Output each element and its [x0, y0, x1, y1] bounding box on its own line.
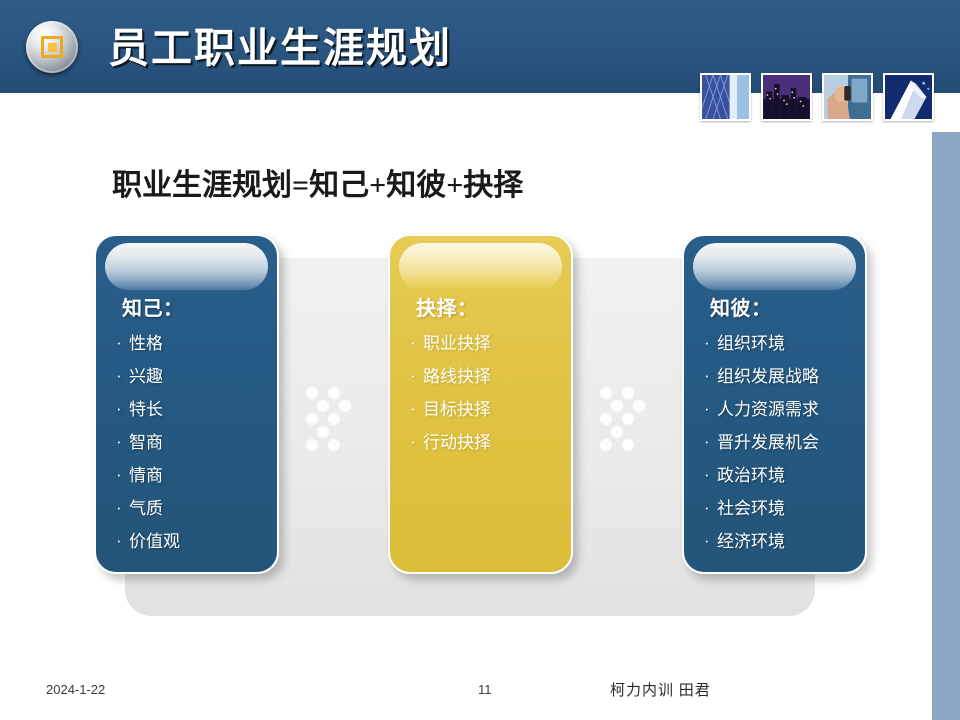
- bullet-glyph: ·: [116, 327, 129, 360]
- list-item: ·人力资源需求: [704, 393, 853, 426]
- list-item-label: 智商: [129, 433, 163, 452]
- slide-root: 员工职业生涯规划: [0, 0, 960, 720]
- list-item: ·经济环境: [704, 525, 853, 558]
- card-heading: 知彼：: [710, 292, 853, 321]
- list-item: ·价值观: [116, 525, 265, 558]
- card-item-list: ·组织环境 ·组织发展战略 ·人力资源需求 ·晋升发展机会 ·政治环境 ·社会环…: [704, 327, 853, 558]
- list-item: ·智商: [116, 426, 265, 459]
- list-item-label: 气质: [129, 499, 163, 518]
- list-item: ·情商: [116, 459, 265, 492]
- person-on-mobile-phone-thumbnail: [822, 73, 873, 121]
- dot: [600, 439, 612, 451]
- list-item-label: 职业抉择: [423, 334, 491, 353]
- card-item-list: ·职业抉择 ·路线抉择 ·目标抉择 ·行动抉择: [410, 327, 559, 459]
- dot: [611, 400, 623, 412]
- bullet-glyph: ·: [116, 393, 129, 426]
- bullet-glyph: ·: [704, 525, 717, 558]
- list-item-label: 社会环境: [717, 499, 785, 518]
- card-know-yourself[interactable]: 知己： ·性格 ·兴趣 ·特长 ·智商 ·情商 ·气质 ·价值观: [94, 234, 279, 574]
- bullet-glyph: ·: [116, 459, 129, 492]
- list-item: ·路线抉择: [410, 360, 559, 393]
- dot: [622, 413, 634, 425]
- list-item: ·社会环境: [704, 492, 853, 525]
- card-gloss-top: [105, 243, 268, 290]
- list-item: ·晋升发展机会: [704, 426, 853, 459]
- list-item: ·行动抉择: [410, 426, 559, 459]
- bullet-glyph: ·: [704, 360, 717, 393]
- dotted-arrow-right-1: [300, 385, 370, 455]
- footer-credit: 柯力内训 田君: [610, 679, 711, 700]
- list-item: ·特长: [116, 393, 265, 426]
- dot: [306, 387, 318, 399]
- list-item-label: 性格: [129, 334, 163, 353]
- dot: [306, 413, 318, 425]
- card-item-list: ·性格 ·兴趣 ·特长 ·智商 ·情商 ·气质 ·价值观: [116, 327, 265, 558]
- list-item: ·政治环境: [704, 459, 853, 492]
- list-item-label: 行动抉择: [423, 433, 491, 452]
- card-gloss-top: [399, 243, 562, 290]
- bullet-glyph: ·: [410, 360, 423, 393]
- bullet-glyph: ·: [410, 327, 423, 360]
- list-item-label: 情商: [129, 466, 163, 485]
- list-item: ·气质: [116, 492, 265, 525]
- square-in-circle-logo-icon: [26, 21, 78, 73]
- header-thumbnail-strip: [700, 73, 934, 121]
- list-item-label: 路线抉择: [423, 367, 491, 386]
- bullet-glyph: ·: [704, 327, 717, 360]
- card-decision[interactable]: 抉择： ·职业抉择 ·路线抉择 ·目标抉择 ·行动抉择: [388, 234, 573, 574]
- bullet-glyph: ·: [704, 492, 717, 525]
- bullet-glyph: ·: [116, 525, 129, 558]
- card-heading: 抉择：: [416, 292, 559, 321]
- logo-square-fill: [48, 43, 57, 52]
- list-item: ·组织环境: [704, 327, 853, 360]
- bullet-glyph: ·: [116, 492, 129, 525]
- bullet-glyph: ·: [704, 393, 717, 426]
- list-item: ·性格: [116, 327, 265, 360]
- dot: [328, 413, 340, 425]
- list-item: ·兴趣: [116, 360, 265, 393]
- dot: [306, 439, 318, 451]
- dot: [600, 387, 612, 399]
- bullet-glyph: ·: [116, 360, 129, 393]
- bullet-glyph: ·: [410, 393, 423, 426]
- list-item-label: 政治环境: [717, 466, 785, 485]
- list-item-label: 特长: [129, 400, 163, 419]
- list-item-label: 组织环境: [717, 334, 785, 353]
- dot: [328, 387, 340, 399]
- bullet-glyph: ·: [116, 426, 129, 459]
- card-body: 抉择： ·职业抉择 ·路线抉择 ·目标抉择 ·行动抉择: [390, 288, 571, 459]
- dot: [317, 400, 329, 412]
- logo-square-outline: [41, 36, 63, 58]
- footer-page-number: 11: [478, 682, 492, 697]
- card-heading: 知己：: [122, 292, 265, 321]
- list-item-label: 兴趣: [129, 367, 163, 386]
- page-title: 员工职业生涯规划: [108, 14, 452, 74]
- dot: [339, 400, 351, 412]
- bullet-glyph: ·: [704, 459, 717, 492]
- right-edge-stripe: [932, 132, 960, 720]
- dotted-arrow-right-2: [594, 385, 664, 455]
- card-body: 知彼： ·组织环境 ·组织发展战略 ·人力资源需求 ·晋升发展机会 ·政治环境 …: [684, 288, 865, 558]
- night-city-skyline-thumbnail: [761, 73, 812, 121]
- list-item: ·组织发展战略: [704, 360, 853, 393]
- list-item: ·目标抉择: [410, 393, 559, 426]
- card-gloss-top: [693, 243, 856, 290]
- list-item-label: 经济环境: [717, 532, 785, 551]
- white-modern-architecture-thumbnail: [883, 73, 934, 121]
- list-item: ·职业抉择: [410, 327, 559, 360]
- dot: [633, 400, 645, 412]
- footer-date: 2024-1-22: [46, 682, 105, 697]
- dot: [622, 387, 634, 399]
- card-body: 知己： ·性格 ·兴趣 ·特长 ·智商 ·情商 ·气质 ·价值观: [96, 288, 277, 558]
- dot: [317, 426, 329, 438]
- list-item-label: 晋升发展机会: [717, 433, 819, 452]
- dot: [328, 439, 340, 451]
- card-know-others[interactable]: 知彼： ·组织环境 ·组织发展战略 ·人力资源需求 ·晋升发展机会 ·政治环境 …: [682, 234, 867, 574]
- slide-subtitle: 职业生涯规划=知己+知彼+抉择: [112, 160, 523, 204]
- bullet-glyph: ·: [704, 426, 717, 459]
- bullet-glyph: ·: [410, 426, 423, 459]
- list-item-label: 目标抉择: [423, 400, 491, 419]
- dot: [600, 413, 612, 425]
- list-item-label: 组织发展战略: [717, 367, 819, 386]
- glass-office-building-thumbnail: [700, 73, 751, 121]
- list-item-label: 人力资源需求: [717, 400, 819, 419]
- dot: [622, 439, 634, 451]
- dot: [611, 426, 623, 438]
- list-item-label: 价值观: [129, 532, 180, 551]
